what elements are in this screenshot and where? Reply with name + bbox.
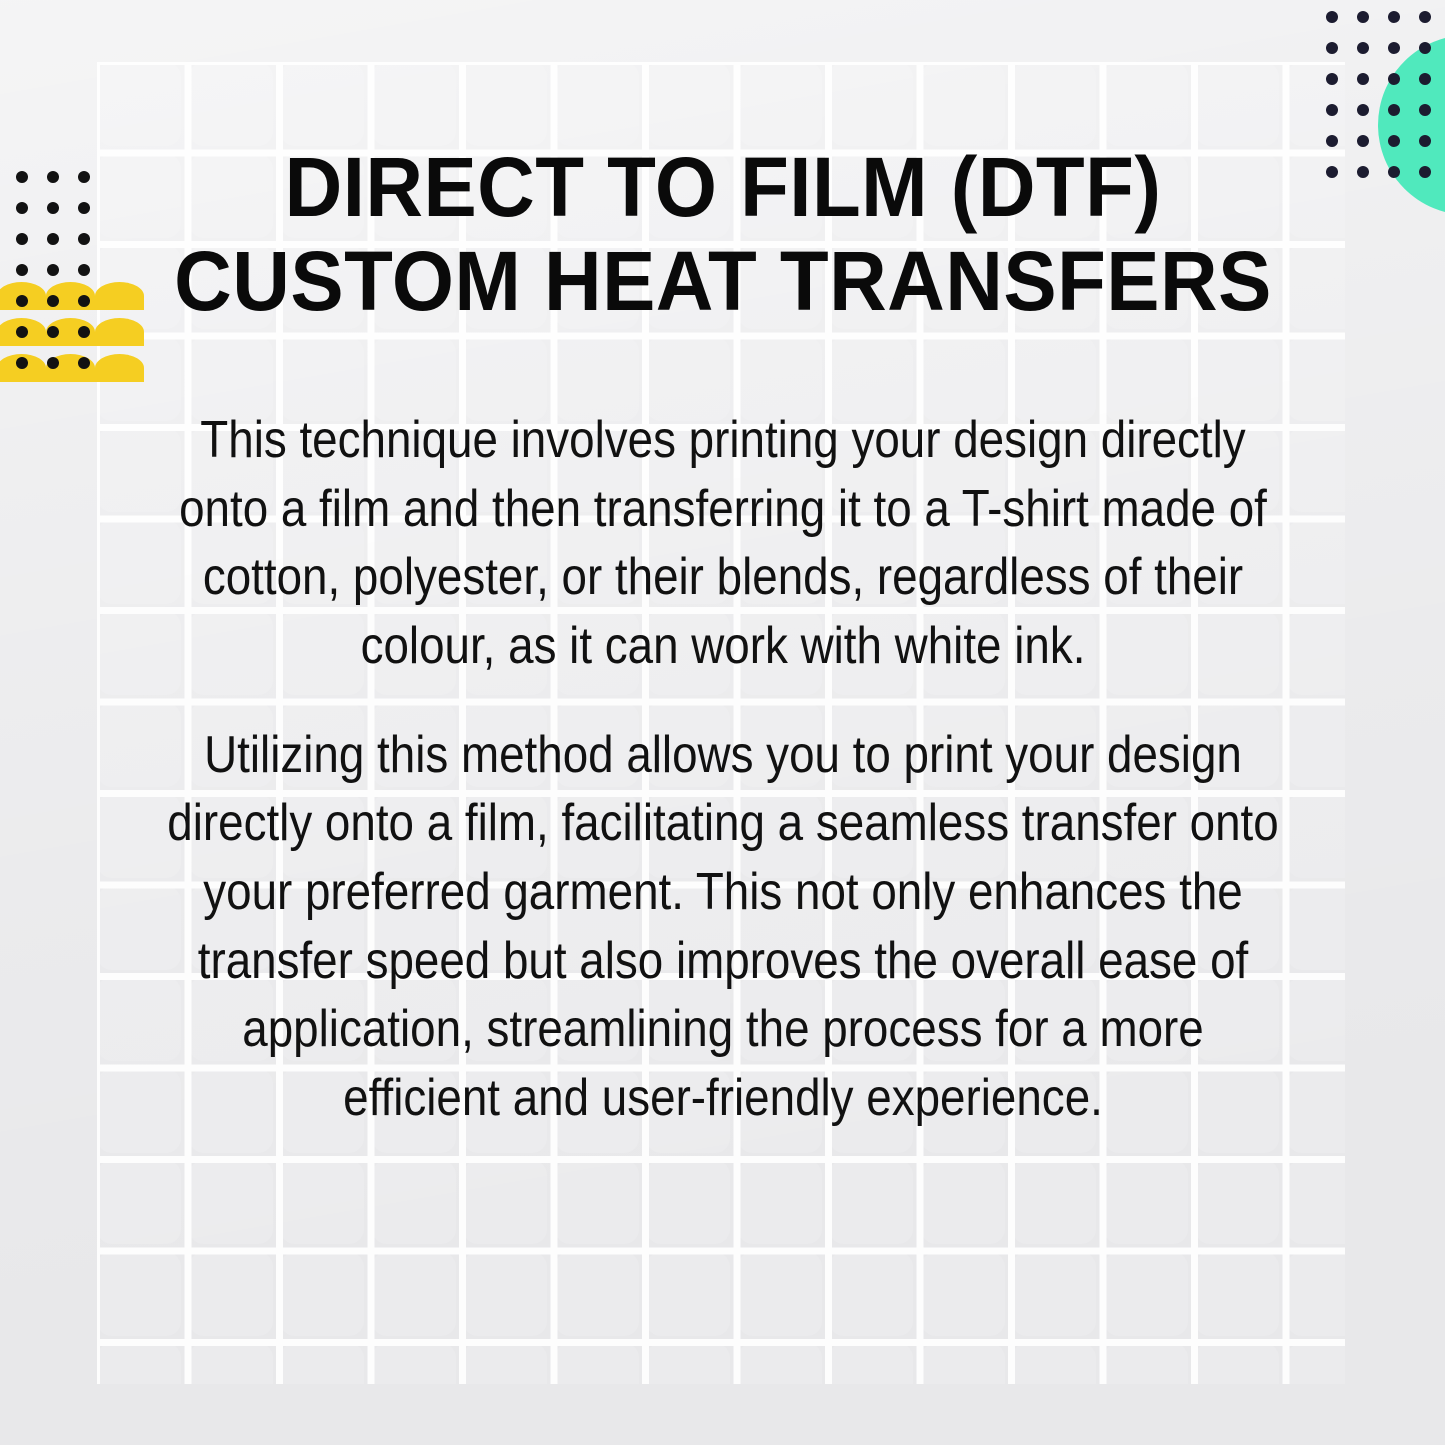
body-text-block: This technique involves printing your de…: [88, 406, 1358, 1132]
title-line-2: CUSTOM HEAT TRANSFERS: [153, 234, 1293, 328]
page-title: DIRECT TO FILM (DTF) CUSTOM HEAT TRANSFE…: [153, 140, 1293, 328]
poster-canvas: DIRECT TO FILM (DTF) CUSTOM HEAT TRANSFE…: [0, 0, 1445, 1445]
title-line-1: DIRECT TO FILM (DTF): [153, 140, 1293, 234]
content-area: DIRECT TO FILM (DTF) CUSTOM HEAT TRANSFE…: [0, 0, 1445, 1445]
paragraph-2: Utilizing this method allows you to prin…: [164, 721, 1282, 1133]
paragraph-1: This technique involves printing your de…: [164, 406, 1282, 681]
